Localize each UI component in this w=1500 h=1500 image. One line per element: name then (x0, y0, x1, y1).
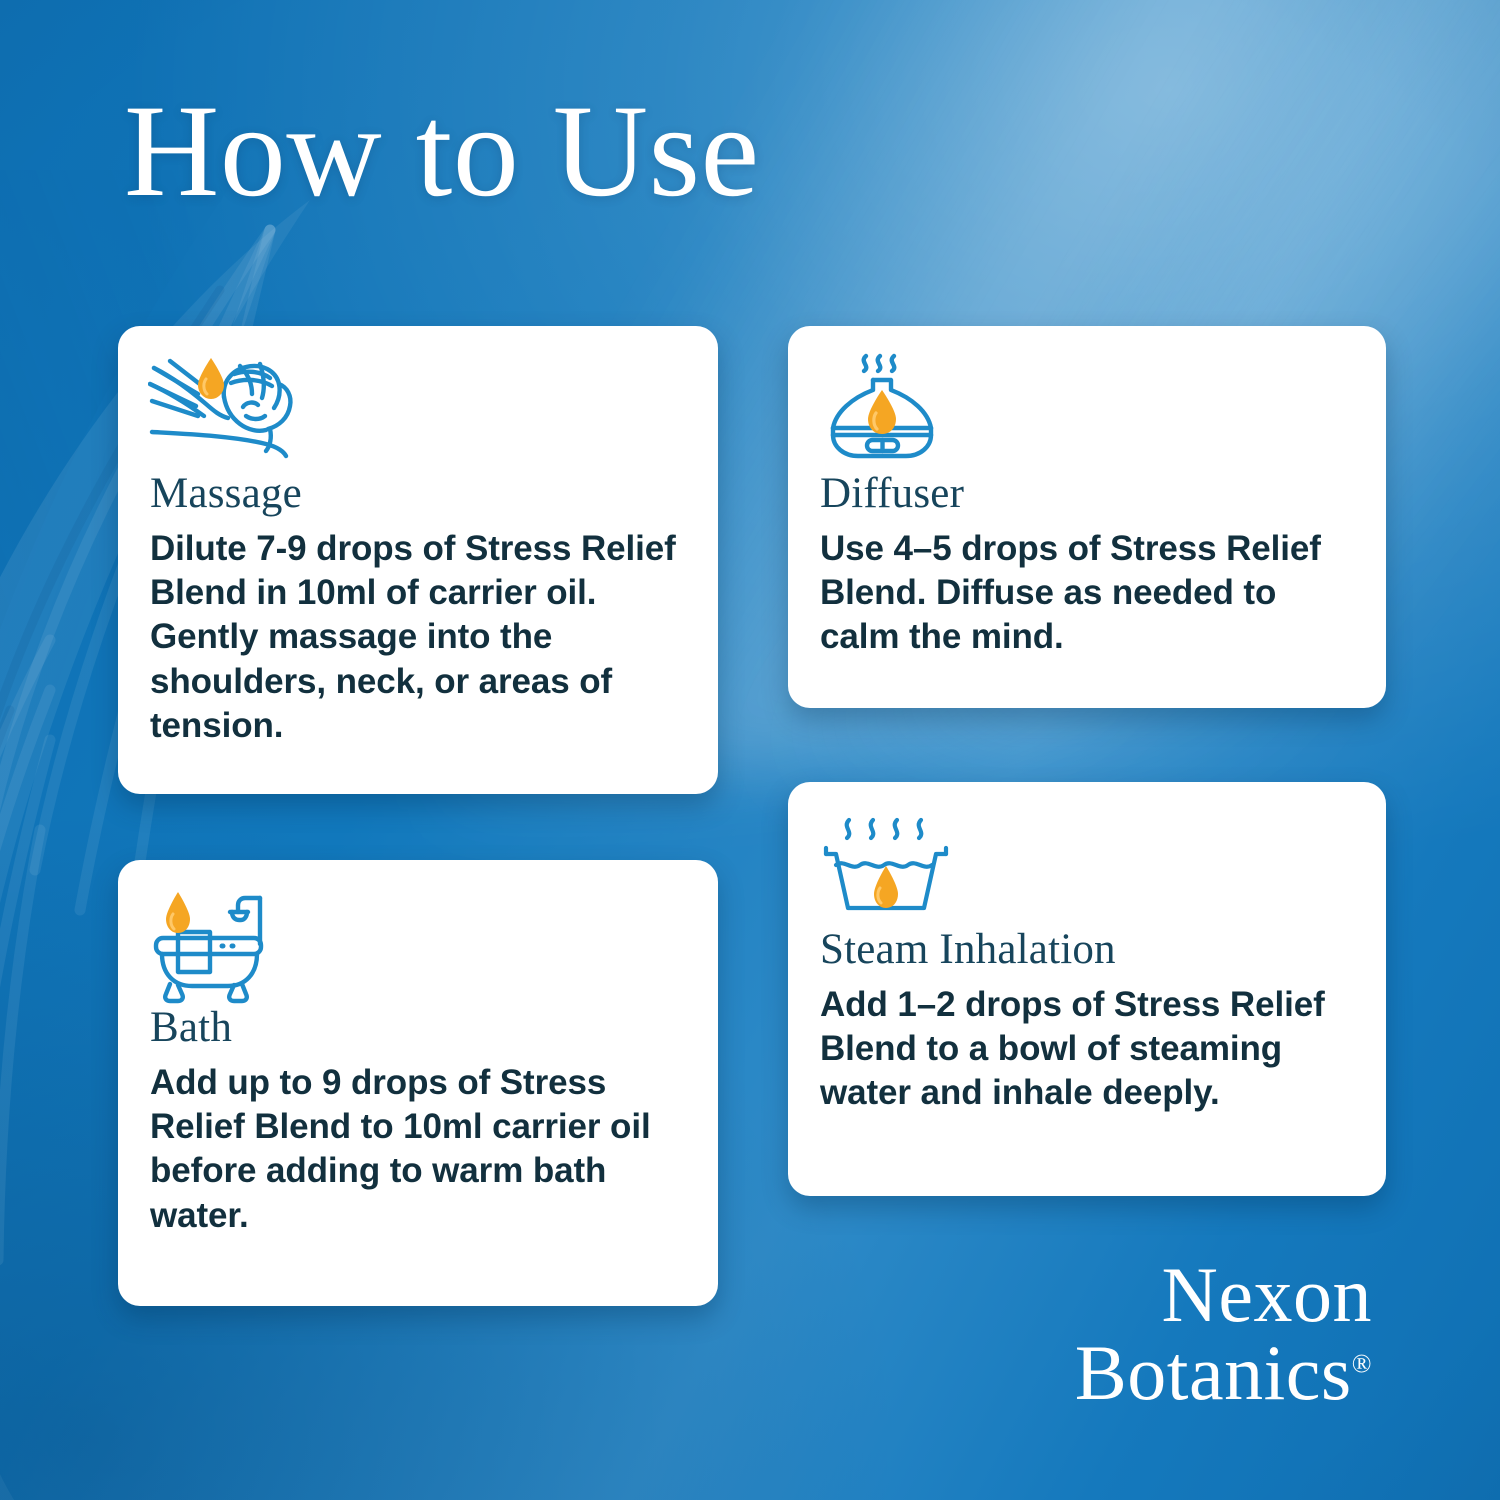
steam-bowl-icon (818, 808, 1356, 920)
bathtub-icon (148, 886, 688, 998)
usage-card-diffuser: Diffuser Use 4–5 drops of Stress Relief … (788, 326, 1386, 708)
card-body: Add 1–2 drops of Stress Relief Blend to … (820, 983, 1356, 1115)
card-title: Steam Inhalation (820, 926, 1356, 973)
page-title: How to Use (124, 82, 760, 221)
card-body: Dilute 7-9 drops of Stress Relief Blend … (150, 527, 688, 747)
usage-card-massage: Massage Dilute 7-9 drops of Stress Relie… (118, 326, 718, 794)
diffuser-icon (818, 352, 1356, 464)
card-body: Use 4–5 drops of Stress Relief Blend. Di… (820, 527, 1356, 659)
brand-logo: Nexon Botanics® (1075, 1256, 1372, 1412)
usage-card-bath: Bath Add up to 9 drops of Stress Relief … (118, 860, 718, 1306)
massage-hands-icon (148, 352, 688, 464)
brand-logo-line1: Nexon (1075, 1256, 1372, 1334)
card-title: Massage (150, 470, 688, 517)
card-title: Diffuser (820, 470, 1356, 517)
brand-logo-line2: Botanics (1075, 1329, 1352, 1416)
card-title: Bath (150, 1004, 688, 1051)
usage-card-steam-inhalation: Steam Inhalation Add 1–2 drops of Stress… (788, 782, 1386, 1196)
card-body: Add up to 9 drops of Stress Relief Blend… (150, 1061, 688, 1237)
brand-logo-line2-wrap: Botanics® (1075, 1334, 1372, 1412)
registered-trademark-symbol: ® (1352, 1349, 1372, 1378)
